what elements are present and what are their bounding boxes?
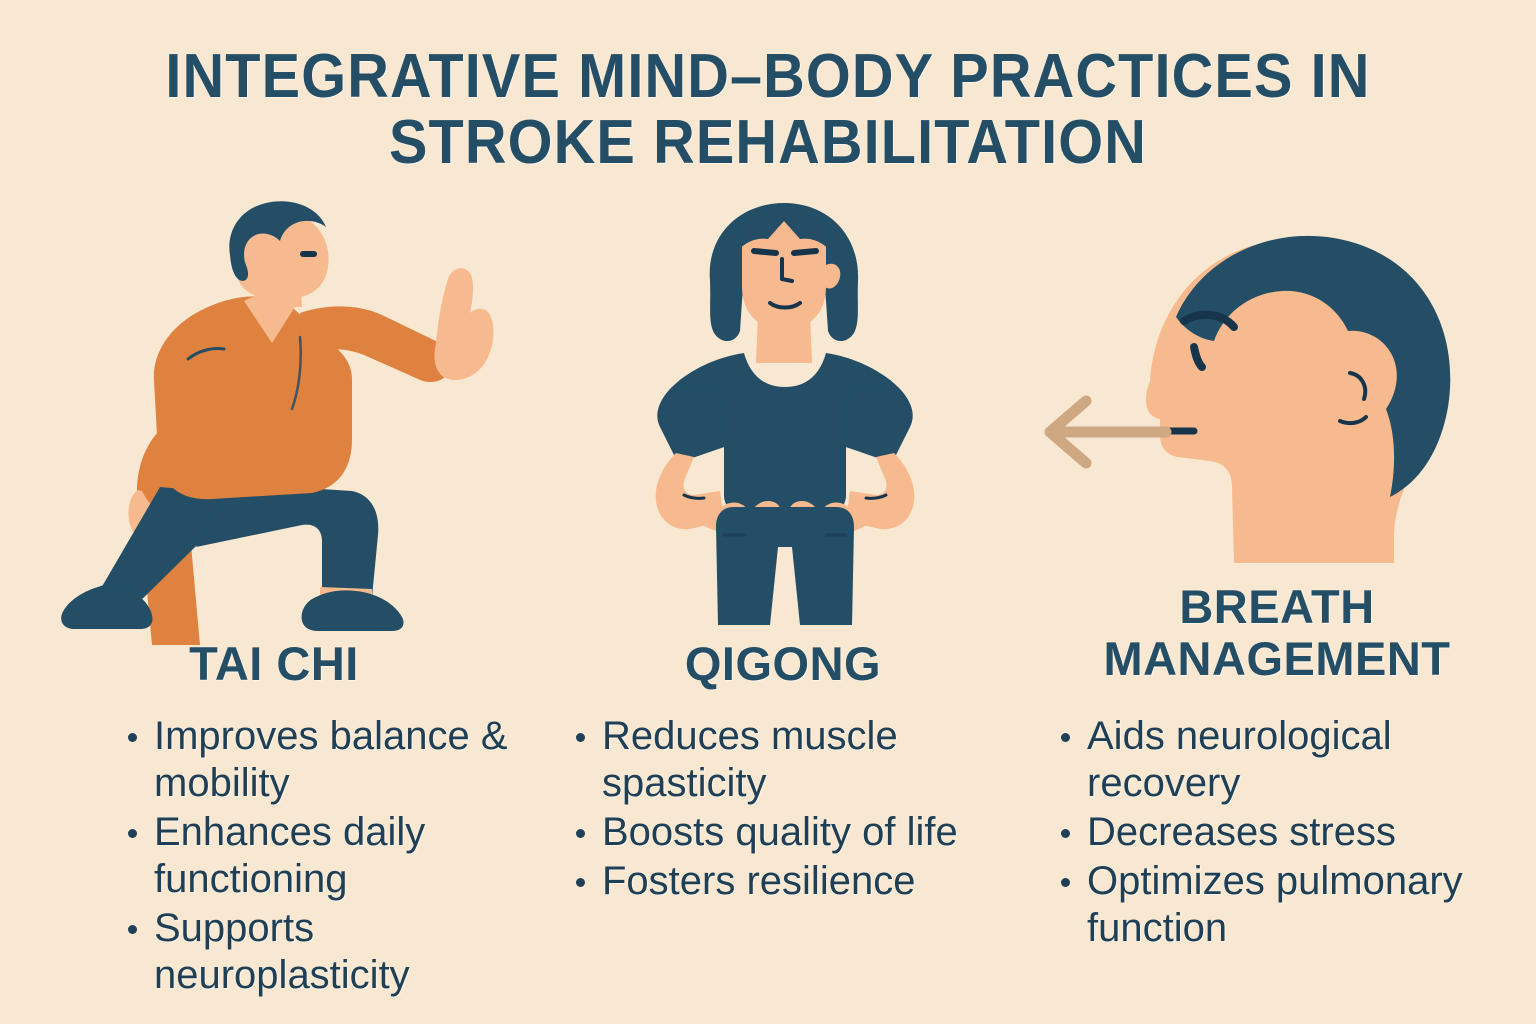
bullet-text: Aids neurological recovery: [1087, 714, 1392, 805]
bullet-dot-icon: [128, 925, 137, 934]
column-breath-management: BREATH MANAGEMENT Aids neurological reco…: [1018, 195, 1536, 1024]
heading-breath-management: BREATH MANAGEMENT: [1018, 581, 1536, 685]
bullet-text: Fosters resilience: [602, 859, 915, 903]
list-item: Aids neurological recovery: [1053, 713, 1523, 807]
list-item: Decreases stress: [1053, 809, 1523, 856]
qigong-left-arm: [656, 453, 724, 529]
title-line-2: STROKE REHABILITATION: [54, 110, 1482, 176]
list-item: Enhances daily functioning: [120, 809, 540, 903]
qigong-right-eyebrow: [794, 251, 816, 253]
list-item: Reduces muscle spasticity: [568, 713, 968, 807]
bullet-dot-icon: [1061, 733, 1070, 742]
list-item: Fosters resilience: [568, 858, 968, 905]
list-item: Improves balance & mobility: [120, 713, 540, 807]
columns-container: TAI CHI Improves balance & mobility Enha…: [0, 195, 1536, 1024]
bullet-text: Decreases stress: [1087, 810, 1396, 854]
bullet-dot-icon: [576, 829, 585, 838]
bullet-dot-icon: [576, 733, 585, 742]
bullet-list-tai-chi: Improves balance & mobility Enhances dai…: [120, 713, 540, 1001]
column-tai-chi: TAI CHI Improves balance & mobility Enha…: [0, 195, 548, 1024]
column-qigong: QIGONG Reduces muscle spasticity Boosts …: [548, 195, 1018, 1024]
bullet-list-breath-management: Aids neurological recovery Decreases str…: [1053, 713, 1523, 954]
bullet-text: Reduces muscle spasticity: [602, 714, 898, 805]
tai-chi-right-shoe: [302, 590, 404, 631]
bullet-list-qigong: Reduces muscle spasticity Boosts quality…: [568, 713, 968, 907]
bullet-dot-icon: [1061, 878, 1070, 887]
bullet-dot-icon: [1061, 829, 1070, 838]
heading-tai-chi: TAI CHI: [0, 638, 548, 690]
title-line-1: INTEGRATIVE MIND–BODY PRACTICES IN: [54, 44, 1482, 110]
list-item: Supports neuroplasticity: [120, 905, 540, 999]
qigong-right-sleeve: [840, 387, 913, 463]
qigong-left-sleeve: [657, 387, 730, 463]
tai-chi-right-leg: [196, 483, 378, 599]
qigong-left-eyebrow: [754, 251, 776, 253]
list-item: Optimizes pulmonary function: [1053, 858, 1523, 952]
bullet-text: Supports neuroplasticity: [154, 906, 410, 997]
qigong-shorts: [716, 507, 854, 625]
bullet-dot-icon: [128, 733, 137, 742]
qigong-right-arm: [846, 453, 914, 529]
page-title: INTEGRATIVE MIND–BODY PRACTICES IN STROK…: [0, 44, 1536, 176]
list-item: Boosts quality of life: [568, 809, 968, 856]
bullet-text: Enhances daily functioning: [154, 810, 425, 901]
bullet-dot-icon: [128, 829, 137, 838]
bullet-text: Improves balance & mobility: [154, 714, 508, 805]
tai-chi-eye: [300, 251, 317, 257]
tai-chi-front-hand: [435, 268, 494, 380]
heading-qigong: QIGONG: [548, 638, 1018, 690]
bullet-dot-icon: [576, 878, 585, 887]
bullet-text: Optimizes pulmonary function: [1087, 859, 1463, 950]
infographic-canvas: INTEGRATIVE MIND–BODY PRACTICES IN STROK…: [0, 0, 1536, 1024]
bullet-text: Boosts quality of life: [602, 810, 958, 854]
